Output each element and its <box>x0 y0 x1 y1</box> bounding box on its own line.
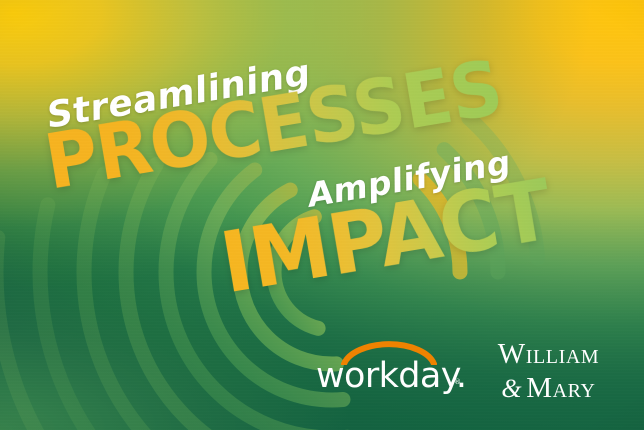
wm-logo-line-mary: Mary <box>526 372 595 404</box>
workday-wordmark: workday. <box>316 359 462 394</box>
workday-registered-mark: ® <box>454 379 461 386</box>
wm-logo-line-william: William <box>481 340 616 369</box>
promotional-banner: Streamlining PROCESSES Amplifying IMPACT… <box>0 0 644 430</box>
workday-logo: workday. ® <box>316 339 462 395</box>
william-and-mary-logo: William &Mary <box>481 340 616 398</box>
wm-logo-ampersand: & <box>501 374 526 403</box>
wm-logo-line-mary-row: &Mary <box>481 374 616 403</box>
